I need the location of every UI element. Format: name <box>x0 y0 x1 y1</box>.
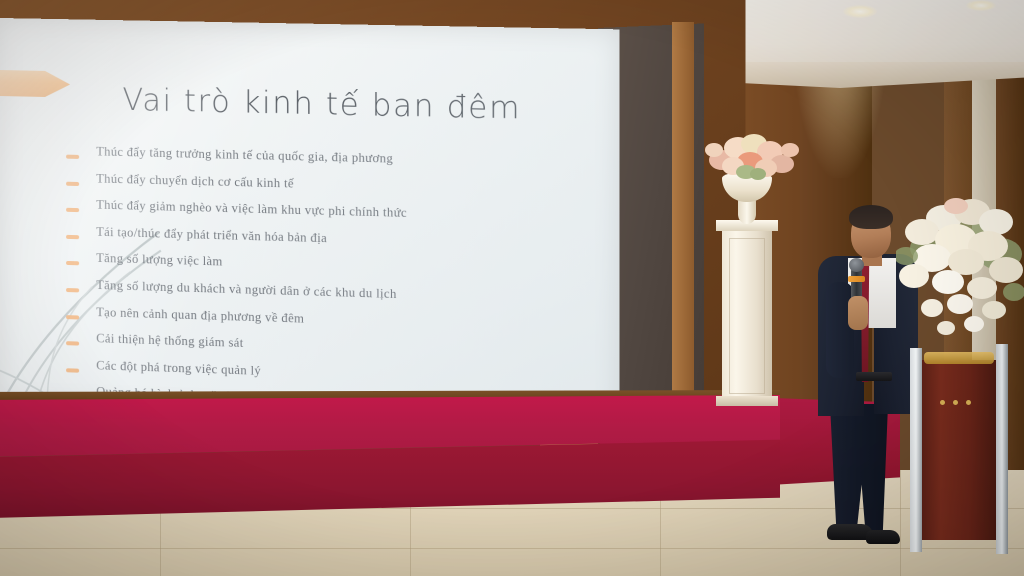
bullet-dash-icon <box>66 368 79 372</box>
speaker-hand <box>848 296 868 330</box>
presentation-photo-scene: Vai trò kinh tế ban đêm Thúc đẩy tăng tr… <box>0 0 1024 576</box>
slide-title: Vai trò kinh tế ban đêm <box>122 83 521 127</box>
bullet-dash-icon <box>66 315 79 319</box>
pedestal-base <box>716 396 778 406</box>
speaker-shoe-right <box>866 530 900 544</box>
podium-body <box>922 360 996 540</box>
urn-flower-arrangement-icon <box>700 126 802 188</box>
bullet-dash-icon <box>66 341 79 345</box>
projected-slide: Vai trò kinh tế ban đêm Thúc đẩy tăng tr… <box>0 18 620 426</box>
podium-emblem <box>940 400 980 406</box>
bullet-text: Thúc đẩy tăng trưởng kinh tế của quốc gi… <box>96 144 393 166</box>
microphone-head <box>849 258 864 272</box>
speaker-hair <box>849 205 893 229</box>
pedestal-column <box>722 228 772 404</box>
white-rose-bouquet-icon <box>896 196 1024 368</box>
downlight-icon <box>966 0 996 11</box>
bullet-text: Tăng số lượng việc làm <box>96 251 222 270</box>
podium-post-left <box>910 348 922 552</box>
bullet-dash-icon <box>66 288 79 292</box>
downlight-icon <box>843 5 877 18</box>
speaker-belt <box>856 372 892 381</box>
orange-arrow-icon <box>0 69 70 97</box>
bullet-dash-icon <box>66 208 79 212</box>
microphone-ring <box>848 276 865 282</box>
bullet-dash-icon <box>66 261 79 265</box>
bullet-dash-icon <box>66 155 79 159</box>
bullet-dash-icon <box>66 181 79 185</box>
podium-post-right <box>996 344 1008 554</box>
speaker-arm <box>826 282 854 378</box>
screen-frame-right-post <box>672 22 694 408</box>
bullet-dash-icon <box>66 235 79 239</box>
slide-bullet-list: Thúc đẩy tăng trưởng kinh tế của quốc gi… <box>66 144 580 427</box>
